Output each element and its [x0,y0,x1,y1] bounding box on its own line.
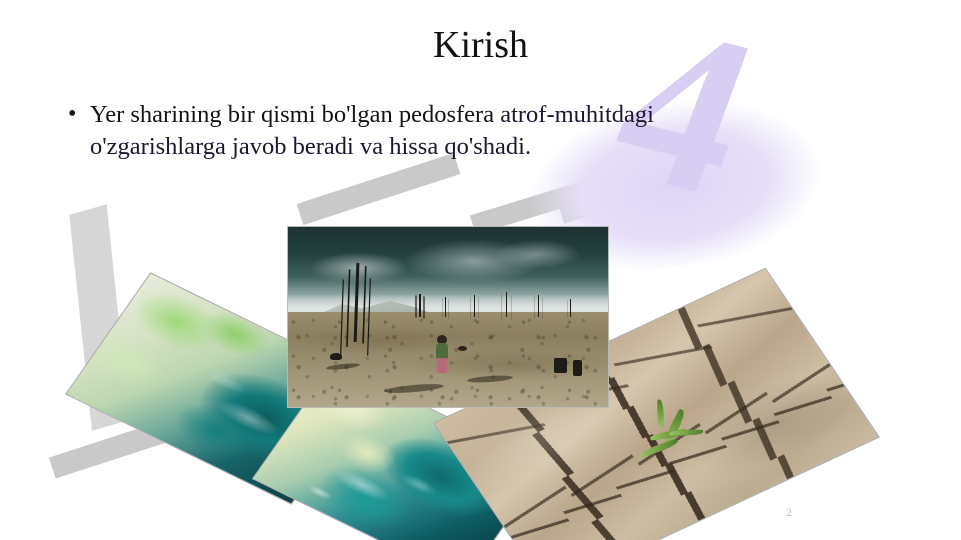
slide-body: • Yer sharining bir qismi bo'lgan pedosf… [68,99,768,163]
child-figure [434,335,451,373]
bullet-text: Yer sharining bir qismi bo'lgan pedosfer… [90,99,768,163]
bullet-text-segment-1: Yer sharining bir qismi bo'lgan pedosfer… [90,101,500,128]
ground-debris [330,353,342,360]
bullet-list-item: • Yer sharining bir qismi bo'lgan pedosf… [68,99,768,163]
seedling-leaf [657,400,663,429]
drought-landscape-image [288,227,608,407]
dead-tree-icon [419,294,420,317]
dead-tree-icon [445,297,446,317]
bullet-marker: • [68,99,90,130]
seedling-leaf [669,430,704,436]
ground-debris [573,360,582,376]
dead-tree-icon [538,295,539,317]
dead-tree-icon [570,299,571,317]
seedling-leaf [638,439,680,458]
child-legs [437,358,447,373]
presentation-slide: L 4 Kirish • Yer sharining bir qismi bo'… [0,0,961,540]
dead-tree-icon [506,292,507,317]
image-collage: 1973 2000 [0,0,961,540]
child-torso [436,343,448,359]
page-number: 2 [786,505,792,520]
ground-debris [554,358,567,373]
dead-tree-icon [474,295,475,317]
slide-title: Kirish [0,22,961,68]
ground-debris [458,346,467,351]
